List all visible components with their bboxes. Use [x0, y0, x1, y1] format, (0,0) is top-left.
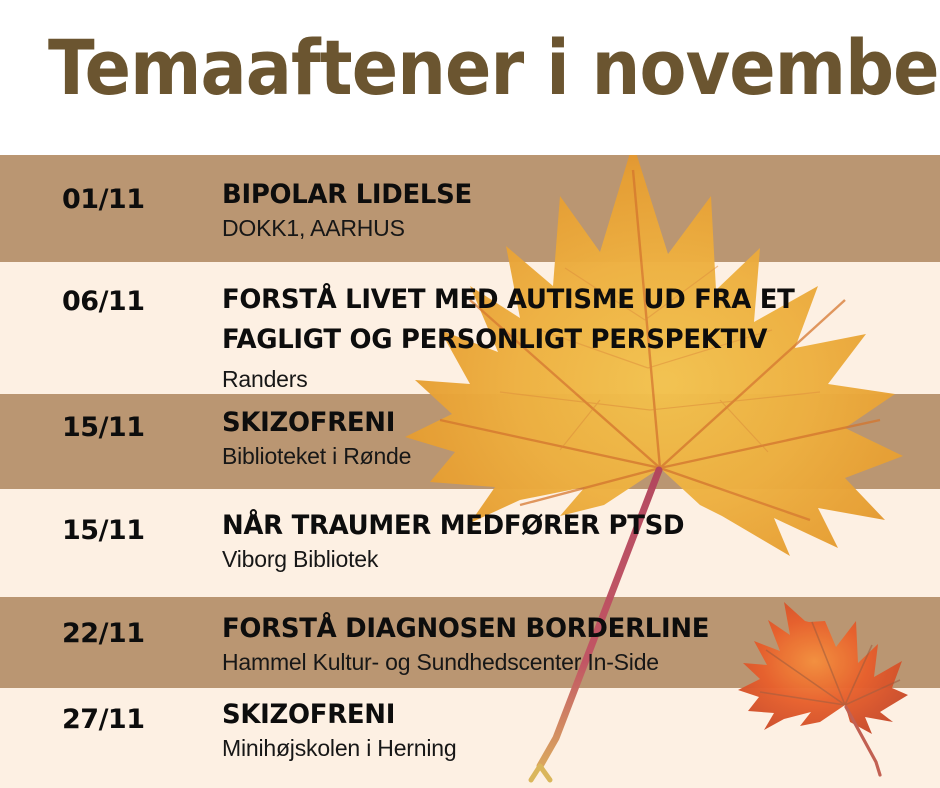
event-body: FORSTÅ LIVET MED AUTISME UD FRA ET FAGLI… [222, 280, 922, 394]
event-date: 06/11 [62, 286, 145, 318]
event-date: 01/11 [62, 184, 145, 216]
event-body: NÅR TRAUMER MEDFØRER PTSD Viborg Bibliot… [222, 509, 922, 574]
event-location: DOKK1, AARHUS [222, 213, 922, 243]
event-date: 15/11 [62, 412, 145, 444]
event-body: FORSTÅ DIAGNOSEN BORDERLINE Hammel Kultu… [222, 612, 922, 677]
event-location: Viborg Bibliotek [222, 544, 922, 574]
event-title: FORSTÅ LIVET MED AUTISME UD FRA ET FAGLI… [222, 280, 894, 360]
event-date: 27/11 [62, 704, 145, 736]
event-body: SKIZOFRENI Biblioteket i Rønde [222, 406, 922, 471]
event-date: 22/11 [62, 618, 145, 650]
event-location: Biblioteket i Rønde [222, 441, 922, 471]
event-location: Minihøjskolen i Herning [222, 733, 922, 763]
event-body: SKIZOFRENI Minihøjskolen i Herning [222, 698, 922, 763]
event-date: 15/11 [62, 515, 145, 547]
header-band: Temaaftener i november [0, 0, 940, 155]
event-title: SKIZOFRENI [222, 406, 894, 440]
poster-canvas: Temaaftener i november 01/11 BIPOLAR LID… [0, 0, 940, 788]
page-title: Temaaftener i november [48, 26, 822, 110]
event-body: BIPOLAR LIDELSE DOKK1, AARHUS [222, 178, 922, 243]
event-location: Randers [222, 364, 922, 394]
event-title: BIPOLAR LIDELSE [222, 178, 894, 212]
event-title: FORSTÅ DIAGNOSEN BORDERLINE [222, 612, 894, 646]
event-title: NÅR TRAUMER MEDFØRER PTSD [222, 509, 894, 543]
event-title: SKIZOFRENI [222, 698, 894, 732]
event-location: Hammel Kultur- og Sundhedscenter In-Side [222, 647, 922, 677]
